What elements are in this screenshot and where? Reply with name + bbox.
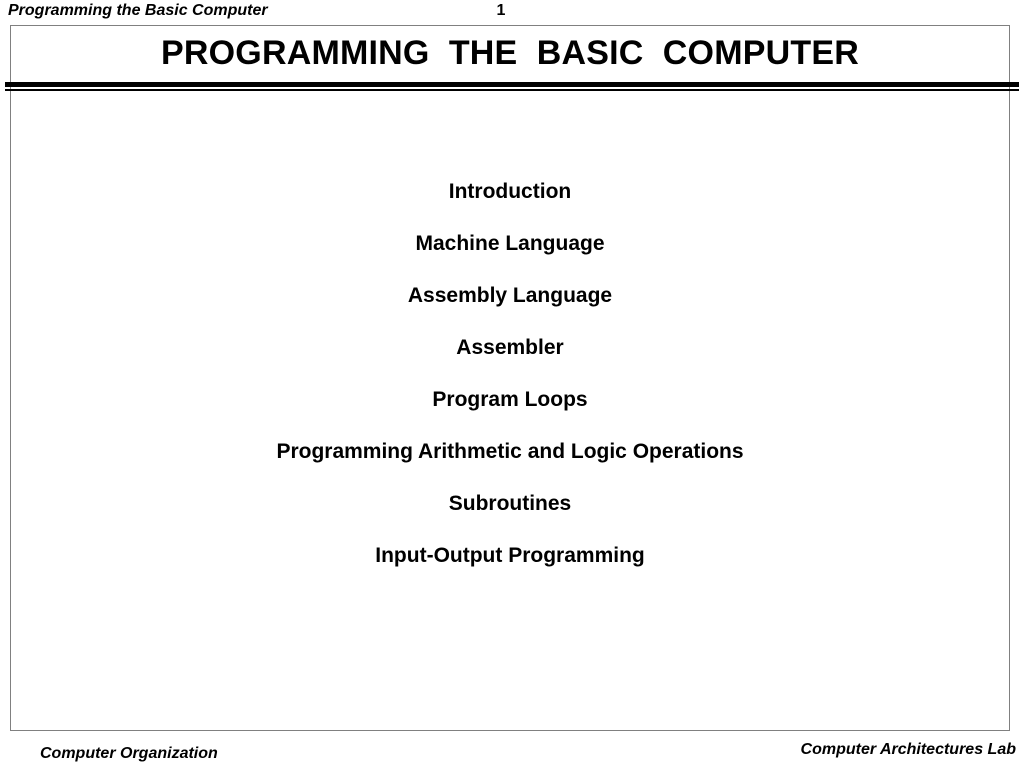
list-item: Machine Language [10,230,1010,258]
outline-list: Introduction Machine Language Assembly L… [10,178,1010,594]
footer-right-text: Computer Architectures Lab [801,739,1016,760]
list-item: Assembly Language [10,282,1010,310]
page-number: 1 [489,0,513,21]
title-rule-thin-bar [5,89,1019,91]
slide-title: PROGRAMMING THE BASIC COMPUTER [10,30,1010,76]
slide-page: { "header": { "running_title": "Programm… [0,0,1024,768]
title-rule-thick-bar [5,82,1019,87]
list-item: Assembler [10,334,1010,362]
page-header: Programming the Basic Computer 1 [0,0,1024,25]
list-item: Input-Output Programming [10,542,1010,570]
list-item: Introduction [10,178,1010,206]
list-item: Programming Arithmetic and Logic Operati… [10,438,1010,466]
running-header-title: Programming the Basic Computer [8,0,268,21]
title-separator-rule [5,82,1019,91]
list-item: Program Loops [10,386,1010,414]
list-item: Subroutines [10,490,1010,518]
footer-left-text: Computer Organization [40,743,218,764]
